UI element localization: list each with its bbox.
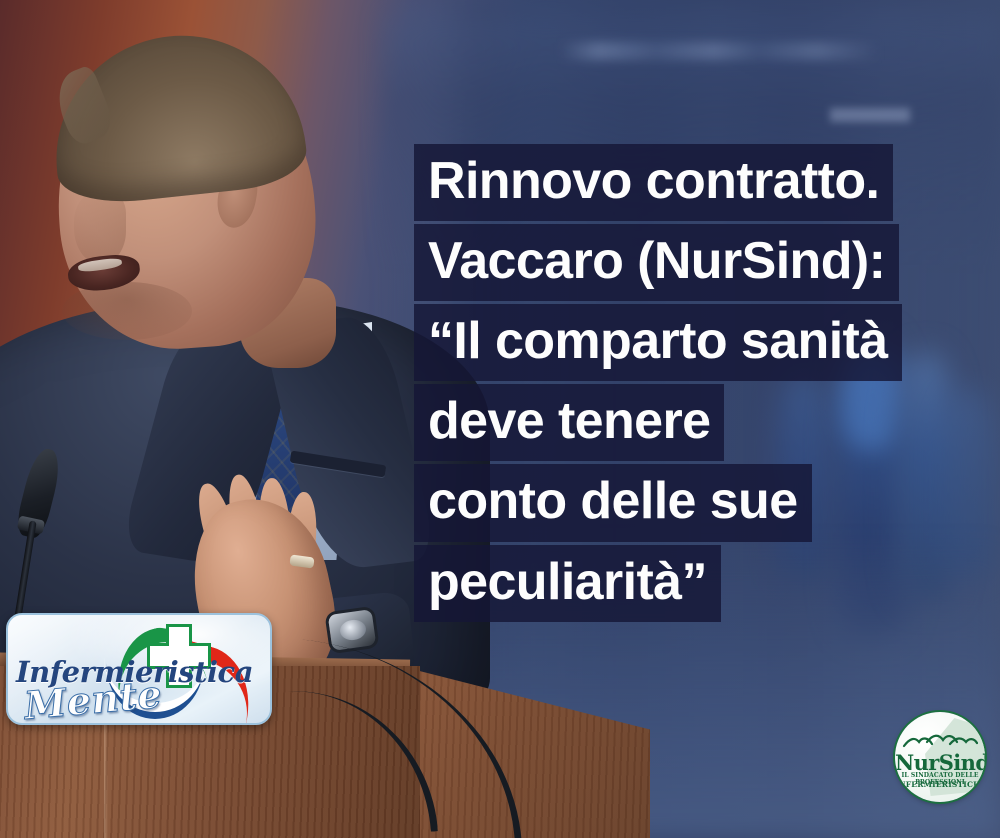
headline-line-3: “Il comparto sanità <box>414 304 902 381</box>
headline-line-1: Rinnovo contratto. <box>414 144 893 221</box>
headline-line-4: deve tenere <box>414 384 724 461</box>
news-graphic-card: Rinnovo contratto. Vaccaro (NurSind): “I… <box>0 0 1000 838</box>
headline-line-2: Vaccaro (NurSind): <box>414 224 899 301</box>
chin-shadow <box>62 282 192 340</box>
nose <box>74 192 126 264</box>
nursind-wordmark: NurSind <box>895 752 985 773</box>
nursind-logo[interactable]: NurSind IL SINDACATO DELLE PROFESSIONI I… <box>895 712 985 802</box>
nursind-subtitle-2: INFERMIERISTICHE <box>895 780 985 789</box>
headline-line-5: conto delle sue <box>414 464 812 541</box>
headline-line-6: peculiarità” <box>414 545 721 622</box>
headline-block: Rinnovo contratto. Vaccaro (NurSind): “I… <box>414 144 1000 625</box>
infermieristica-mente-logo[interactable]: Infermieristica Mente <box>6 613 272 725</box>
